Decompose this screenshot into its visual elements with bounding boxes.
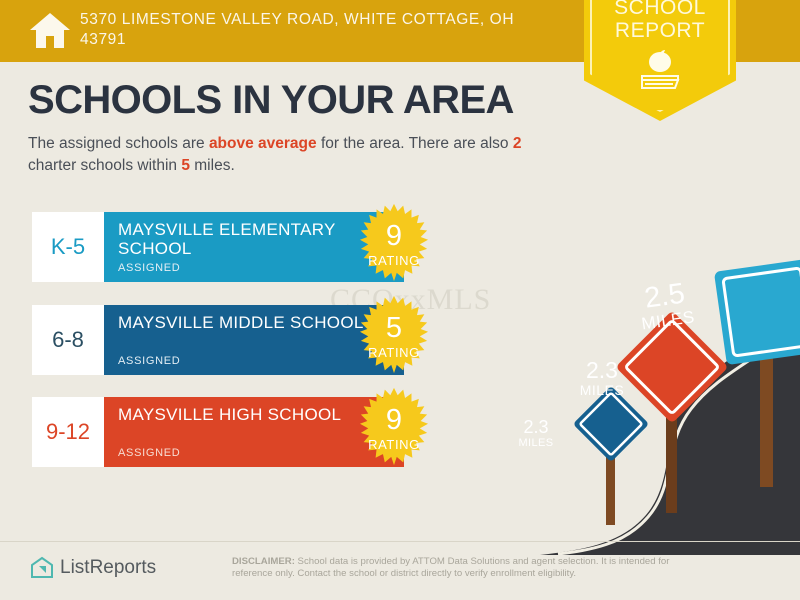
sign-post-large [760, 355, 773, 487]
subtitle-highlight-1: above average [209, 135, 317, 152]
subtitle-part-2: for the area. There are also [317, 135, 513, 152]
grade-badge: K-5 [32, 212, 104, 282]
school-status: ASSIGNED [118, 262, 180, 274]
subtitle-part-3: charter schools within [28, 157, 181, 174]
listreports-logo-text: ListReports [60, 557, 156, 579]
sign-small-unit: MILES [491, 437, 581, 450]
badge-line-2: REPORT [615, 19, 705, 42]
sign-medium-value: 2.3 [547, 358, 657, 382]
sign-small-value: 2.3 [491, 418, 581, 437]
footer-divider [0, 541, 800, 542]
page-subtitle: The assigned schools are above average f… [28, 133, 568, 177]
home-icon [28, 8, 72, 52]
grade-badge: 6-8 [32, 305, 104, 375]
rating-badge: 9 RATING [348, 202, 440, 294]
rating-value: 9 [348, 222, 440, 251]
sign-medium-text: 2.3 MILES [547, 358, 657, 398]
subtitle-highlight-2: 2 [513, 135, 522, 152]
listreports-logo[interactable]: ListReports [30, 556, 156, 580]
school-report-badge: SCHOOL REPORT [584, 0, 736, 121]
sign-large [714, 259, 800, 365]
subtitle-part-4: miles. [190, 157, 235, 174]
subtitle-highlight-3: 5 [181, 157, 190, 174]
school-status: ASSIGNED [118, 447, 180, 459]
rating-badge: 9 RATING [348, 386, 440, 478]
apple-on-book-icon [637, 48, 683, 92]
page-title: SCHOOLS IN YOUR AREA [28, 78, 514, 123]
sign-small-text: 2.3 MILES [491, 418, 581, 450]
badge-line-1: SCHOOL [614, 0, 706, 19]
rating-label: RATING [348, 345, 440, 360]
subtitle-part-1: The assigned schools are [28, 135, 209, 152]
rating-label: RATING [348, 253, 440, 268]
disclaimer-body: School data is provided by ATTOM Data So… [232, 556, 669, 579]
rating-value: 5 [348, 314, 440, 343]
school-report-infographic: 5370 LIMESTONE VALLEY ROAD, WHITE COTTAG… [0, 0, 800, 600]
listreports-house-icon [30, 556, 54, 580]
rating-value: 9 [348, 406, 440, 435]
sign-medium-unit: MILES [547, 382, 657, 398]
badge-title: SCHOOL REPORT [584, 0, 736, 42]
rating-label: RATING [348, 437, 440, 452]
rating-badge: 5 RATING [348, 294, 440, 386]
disclaimer-label: DISCLAIMER: [232, 556, 295, 567]
property-address: 5370 LIMESTONE VALLEY ROAD, WHITE COTTAG… [80, 10, 530, 50]
grade-badge: 9-12 [32, 397, 104, 467]
disclaimer-text: DISCLAIMER: School data is provided by A… [232, 556, 702, 580]
school-status: ASSIGNED [118, 355, 180, 367]
